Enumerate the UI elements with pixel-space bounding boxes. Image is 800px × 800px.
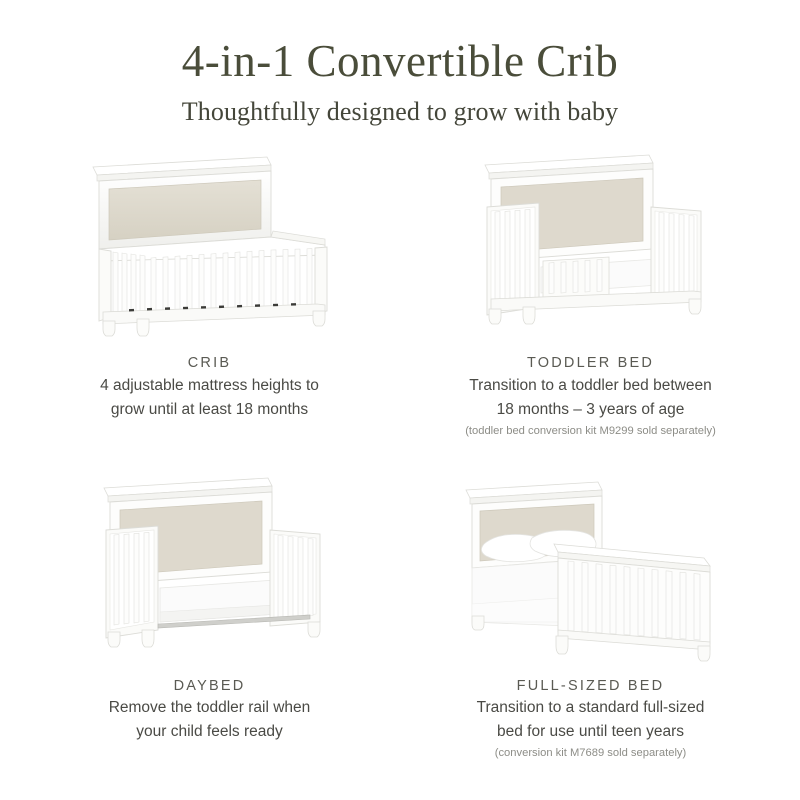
stage-heading: FULL-SIZED BED <box>403 677 778 696</box>
page-title: 4-in-1 Convertible Crib <box>0 38 800 85</box>
stage-line-2: grow until at least 18 months <box>22 399 397 421</box>
stage-heading: TODDLER BED <box>403 354 778 373</box>
stage-line-1: 4 adjustable mattress heights to <box>22 375 397 397</box>
header: 4-in-1 Convertible Crib Thoughtfully des… <box>0 0 800 127</box>
toddler-bed-illustration <box>403 149 778 347</box>
caption-crib: CRIB 4 adjustable mattress heights to gr… <box>22 347 397 424</box>
stage-card-full-sized-bed: FULL-SIZED BED Transition to a standard … <box>403 472 778 790</box>
stage-card-toddler-bed: TODDLER BED Transition to a toddler bed … <box>403 149 778 467</box>
stage-line-2: bed for use until teen years <box>403 721 778 743</box>
stage-note: (toddler bed conversion kit M9299 sold s… <box>403 424 778 440</box>
stage-line-1: Remove the toddler rail when <box>22 697 397 719</box>
stage-heading: CRIB <box>22 354 397 373</box>
stage-grid: CRIB 4 adjustable mattress heights to gr… <box>0 127 800 800</box>
stage-note: (conversion kit M7689 sold separately) <box>403 746 778 762</box>
caption-toddler-bed: TODDLER BED Transition to a toddler bed … <box>403 347 778 440</box>
caption-full-sized-bed: FULL-SIZED BED Transition to a standard … <box>403 670 778 763</box>
caption-daybed: DAYBED Remove the toddler rail when your… <box>22 670 397 747</box>
stage-card-crib: CRIB 4 adjustable mattress heights to gr… <box>22 149 397 467</box>
stage-line-1: Transition to a standard full-sized <box>403 697 778 719</box>
stage-heading: DAYBED <box>22 677 397 696</box>
crib-illustration <box>22 149 397 347</box>
page-subtitle: Thoughtfully designed to grow with baby <box>0 97 800 127</box>
stage-line-2: your child feels ready <box>22 721 397 743</box>
stage-line-2: 18 months – 3 years of age <box>403 399 778 421</box>
daybed-illustration <box>22 472 397 670</box>
product-infographic: 4-in-1 Convertible Crib Thoughtfully des… <box>0 0 800 800</box>
full-sized-bed-illustration <box>403 472 778 670</box>
stage-card-daybed: DAYBED Remove the toddler rail when your… <box>22 472 397 790</box>
stage-line-1: Transition to a toddler bed between <box>403 375 778 397</box>
